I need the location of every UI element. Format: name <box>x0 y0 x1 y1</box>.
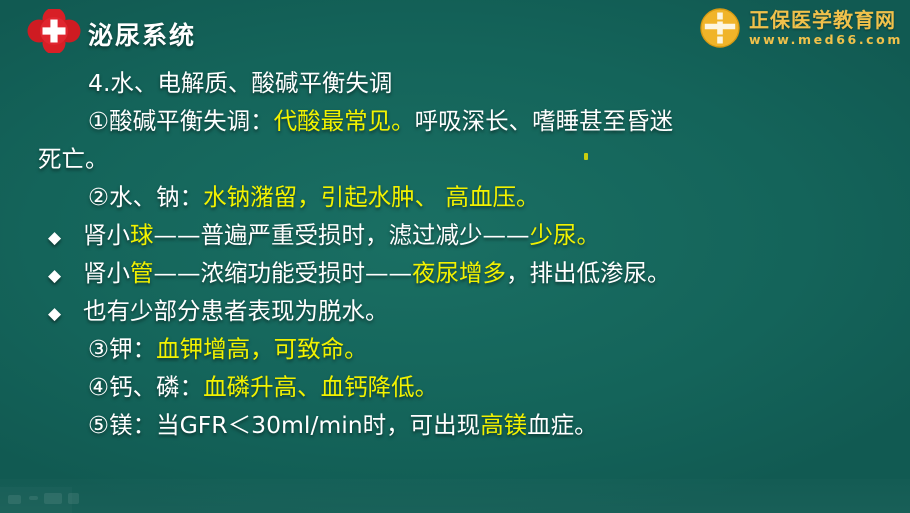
text-line: ④钙、磷：血磷升高、血钙降低。 <box>88 376 438 400</box>
body-text: 血症。 <box>527 411 598 439</box>
line-text: 肾小球——普遍严重受损时，滤过减少——少尿。 <box>83 224 600 248</box>
player-toolbar[interactable] <box>0 479 910 513</box>
body-text: ③钾： <box>88 335 156 363</box>
body-text: ④钙、磷： <box>88 373 203 401</box>
body-text: 呼吸深长、嗜睡甚至昏迷 <box>415 107 674 135</box>
toolbar-ghost-icon-3[interactable] <box>44 493 62 504</box>
diamond-bullet-icon: ◆ <box>48 306 83 323</box>
toolbar-ghost-icon-2[interactable] <box>29 496 38 500</box>
toolbar-ghost-icon-4[interactable] <box>68 493 79 504</box>
line-text: 死亡。 <box>38 145 109 173</box>
line-text: ⑤镁：当GFR＜30ml/min时，可出现高镁血症。 <box>88 411 598 439</box>
site-url: www.med66.com <box>749 32 903 48</box>
line-text: ②水、钠：水钠潴留，引起水肿、 高血压。 <box>88 183 540 211</box>
text-line: ⑤镁：当GFR＜30ml/min时，可出现高镁血症。 <box>88 414 598 438</box>
highlight-text: 管 <box>130 259 154 287</box>
body-text: ⑤镁：当GFR＜30ml/min时，可出现 <box>88 411 480 439</box>
body-text: 死亡。 <box>38 145 109 173</box>
page-title: 泌尿系统 <box>88 16 196 52</box>
site-name: 正保医学教育网 <box>749 9 903 31</box>
diamond-bullet-icon: ◆ <box>48 230 83 247</box>
line-text: ③钾：血钾增高，可致命。 <box>88 335 368 363</box>
body-text: ①酸碱平衡失调： <box>88 107 274 135</box>
diamond-bullet-icon: ◆ <box>48 268 83 285</box>
slide-header: 泌尿系统 正保医学教育网 www.med66.com <box>0 0 910 58</box>
highlight-text: 代酸最常见。 <box>274 107 415 135</box>
highlight-text: 高镁 <box>480 411 527 439</box>
body-text: ，排出低渗尿。 <box>506 259 671 287</box>
toolbar-ghost-icon-1[interactable] <box>8 495 21 504</box>
site-logo-text: 正保医学教育网 www.med66.com <box>749 9 903 48</box>
body-text: ——普遍严重受损时，滤过减少—— <box>154 221 530 249</box>
slide-body: 4.水、电解质、酸碱平衡失调①酸碱平衡失调：代酸最常见。呼吸深长、嗜睡甚至昏迷死… <box>0 62 910 462</box>
highlight-text: 血钾增高，可致命。 <box>156 335 368 363</box>
body-text: 4.水、电解质、酸碱平衡失调 <box>88 69 392 97</box>
text-line: ③钾：血钾增高，可致命。 <box>88 338 368 362</box>
body-text: 肾小 <box>83 259 130 287</box>
line-text: 肾小管——浓缩功能受损时——夜尿增多，排出低渗尿。 <box>83 262 671 286</box>
body-text: 肾小 <box>83 221 130 249</box>
highlight-text: 球 <box>130 221 154 249</box>
red-cross-clover-icon <box>23 9 85 53</box>
text-line: 4.水、电解质、酸碱平衡失调 <box>88 72 392 96</box>
bullet-list-item: ◆肾小球——普遍严重受损时，滤过减少——少尿。 <box>48 224 600 248</box>
highlight-text: 少尿。 <box>530 221 601 249</box>
highlight-text: 血磷升高、血钙降低。 <box>203 373 438 401</box>
text-line: 死亡。 <box>38 148 109 172</box>
med66-circle-cross-icon <box>698 6 742 50</box>
text-line: ①酸碱平衡失调：代酸最常见。呼吸深长、嗜睡甚至昏迷 <box>88 110 673 134</box>
bullet-list-item: ◆肾小管——浓缩功能受损时——夜尿增多，排出低渗尿。 <box>48 262 671 286</box>
line-text: ①酸碱平衡失调：代酸最常见。呼吸深长、嗜睡甚至昏迷 <box>88 107 673 135</box>
site-logo[interactable]: 正保医学教育网 www.med66.com <box>698 6 903 50</box>
line-text: 4.水、电解质、酸碱平衡失调 <box>88 69 392 97</box>
line-text: 也有少部分患者表现为脱水。 <box>83 300 389 324</box>
stray-speck-artifact <box>584 153 588 160</box>
slide-canvas: 泌尿系统 正保医学教育网 www.med66.com 4.水、电解质、酸碱平衡失… <box>0 0 910 513</box>
body-text: ——浓缩功能受损时—— <box>154 259 413 287</box>
bullet-list-item: ◆也有少部分患者表现为脱水。 <box>48 300 389 324</box>
line-text: ④钙、磷：血磷升高、血钙降低。 <box>88 373 438 401</box>
body-text: ②水、钠： <box>88 183 203 211</box>
text-line: ②水、钠：水钠潴留，引起水肿、 高血压。 <box>88 186 540 210</box>
highlight-text: 水钠潴留，引起水肿、 高血压。 <box>203 183 539 211</box>
body-text: 也有少部分患者表现为脱水。 <box>83 297 389 325</box>
highlight-text: 夜尿增多 <box>412 259 506 287</box>
